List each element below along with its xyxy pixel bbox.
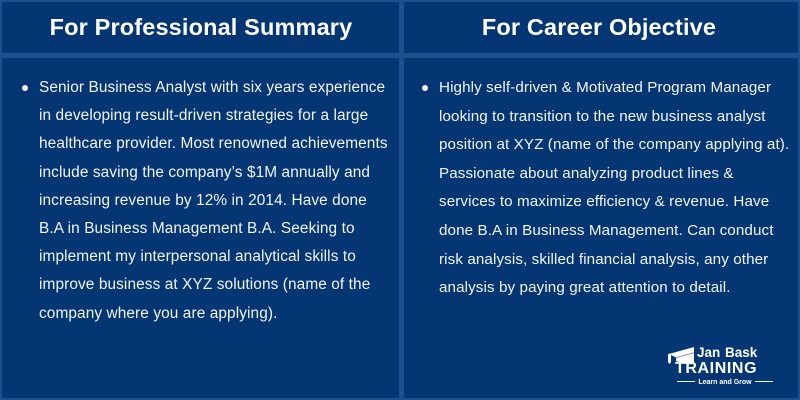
body-cell-professional-summary: Senior Business Analyst with six years e… (2, 58, 400, 398)
logo-name-part-two: Bask (725, 345, 758, 360)
list-item-text: Senior Business Analyst with six years e… (39, 79, 388, 322)
logo-name-part-one: Jan (697, 345, 720, 360)
logo-word-training: TRAINING (675, 360, 757, 377)
comparison-infographic: For Professional Summary For Career Obje… (0, 0, 800, 400)
list-item: Senior Business Analyst with six years e… (20, 74, 388, 328)
list-item-text: Highly self-driven & Motivated Program M… (439, 79, 789, 296)
bullet-list-professional-summary: Senior Business Analyst with six years e… (20, 74, 388, 328)
header-cell-professional-summary: For Professional Summary (2, 2, 400, 53)
janbask-training-logo: Jan Bask TRAINING Learn and Grow (666, 344, 784, 390)
column-heading-professional-summary: For Professional Summary (50, 16, 353, 40)
bullet-list-career-objective: Highly self-driven & Motivated Program M… (420, 74, 790, 303)
list-item: Highly self-driven & Motivated Program M… (420, 74, 790, 303)
column-heading-career-objective: For Career Objective (482, 16, 716, 40)
header-cell-career-objective: For Career Objective (400, 2, 798, 53)
bullet-dot-icon (22, 85, 28, 91)
logo-tagline: Learn and Grow (698, 379, 752, 386)
bullet-dot-icon (422, 85, 428, 91)
